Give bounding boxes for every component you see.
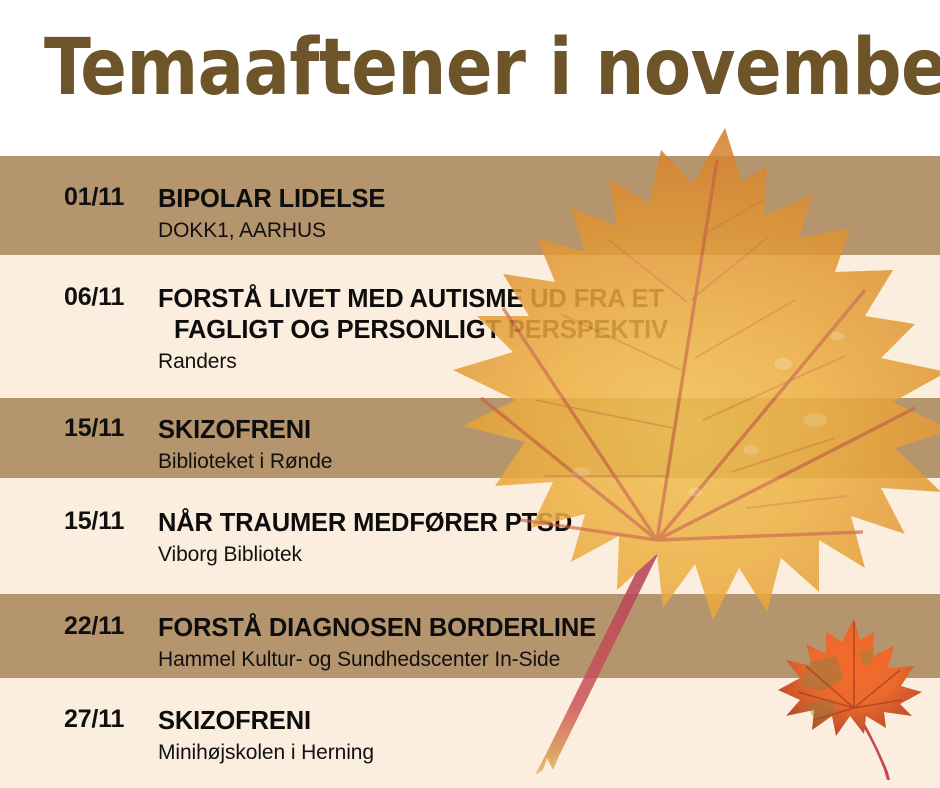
event-title-line: SKIZOFRENI	[158, 416, 311, 444]
event-title-line: FORSTÅ LIVET MED AUTISME UD FRA ET	[158, 285, 664, 313]
poster-header: Temaaftener i november	[0, 0, 940, 156]
event-row: 15/11 SKIZOFRENI Biblioteket i Rønde	[0, 398, 940, 478]
event-venue: Hammel Kultur- og Sundhedscenter In-Side	[158, 646, 932, 673]
event-venue: Minihøjskolen i Herning	[158, 739, 932, 766]
page-title: Temaaftener i november	[44, 22, 887, 114]
event-title-line: BIPOLAR LIDELSE	[158, 185, 385, 213]
event-date: 15/11	[0, 415, 158, 441]
event-row: 15/11 NÅR TRAUMER MEDFØRER PTSD Viborg B…	[0, 478, 940, 594]
event-row: 22/11 FORSTÅ DIAGNOSEN BORDERLINE Hammel…	[0, 594, 940, 678]
event-body: FORSTÅ LIVET MED AUTISME UD FRA ET FAGLI…	[158, 284, 940, 375]
event-title: BIPOLAR LIDELSE	[158, 184, 932, 215]
event-row: 27/11 SKIZOFRENI Minihøjskolen i Herning	[0, 678, 940, 788]
event-venue: DOKK1, AARHUS	[158, 217, 932, 244]
event-title: FORSTÅ DIAGNOSEN BORDERLINE	[158, 613, 932, 644]
event-date: 06/11	[0, 284, 158, 310]
event-title: FORSTÅ LIVET MED AUTISME UD FRA ET FAGLI…	[158, 284, 932, 346]
event-list: 01/11 BIPOLAR LIDELSE DOKK1, AARHUS 06/1…	[0, 156, 940, 788]
event-title: SKIZOFRENI	[158, 706, 932, 737]
event-body: NÅR TRAUMER MEDFØRER PTSD Viborg Bibliot…	[158, 508, 940, 568]
event-title-line: NÅR TRAUMER MEDFØRER PTSD	[158, 509, 572, 537]
event-venue: Randers	[158, 348, 932, 375]
event-body: SKIZOFRENI Minihøjskolen i Herning	[158, 706, 940, 766]
event-title: SKIZOFRENI	[158, 415, 932, 446]
event-title-line: SKIZOFRENI	[158, 707, 311, 735]
event-title-line: FORSTÅ DIAGNOSEN BORDERLINE	[158, 614, 596, 642]
event-date: 27/11	[0, 706, 158, 732]
event-body: BIPOLAR LIDELSE DOKK1, AARHUS	[158, 184, 940, 244]
event-title: NÅR TRAUMER MEDFØRER PTSD	[158, 508, 932, 539]
event-date: 15/11	[0, 508, 158, 534]
event-row: 06/11 FORSTÅ LIVET MED AUTISME UD FRA ET…	[0, 255, 940, 398]
event-body: SKIZOFRENI Biblioteket i Rønde	[158, 415, 940, 475]
event-venue: Viborg Bibliotek	[158, 541, 932, 568]
event-row: 01/11 BIPOLAR LIDELSE DOKK1, AARHUS	[0, 156, 940, 255]
event-date: 22/11	[0, 613, 158, 639]
poster-canvas: Temaaftener i november 01/11 BIPOLAR LID…	[0, 0, 940, 788]
event-date: 01/11	[0, 184, 158, 210]
event-body: FORSTÅ DIAGNOSEN BORDERLINE Hammel Kultu…	[158, 613, 940, 673]
event-venue: Biblioteket i Rønde	[158, 448, 932, 475]
event-title-line: FAGLIGT OG PERSONLIGT PERSPEKTIV	[158, 315, 932, 346]
